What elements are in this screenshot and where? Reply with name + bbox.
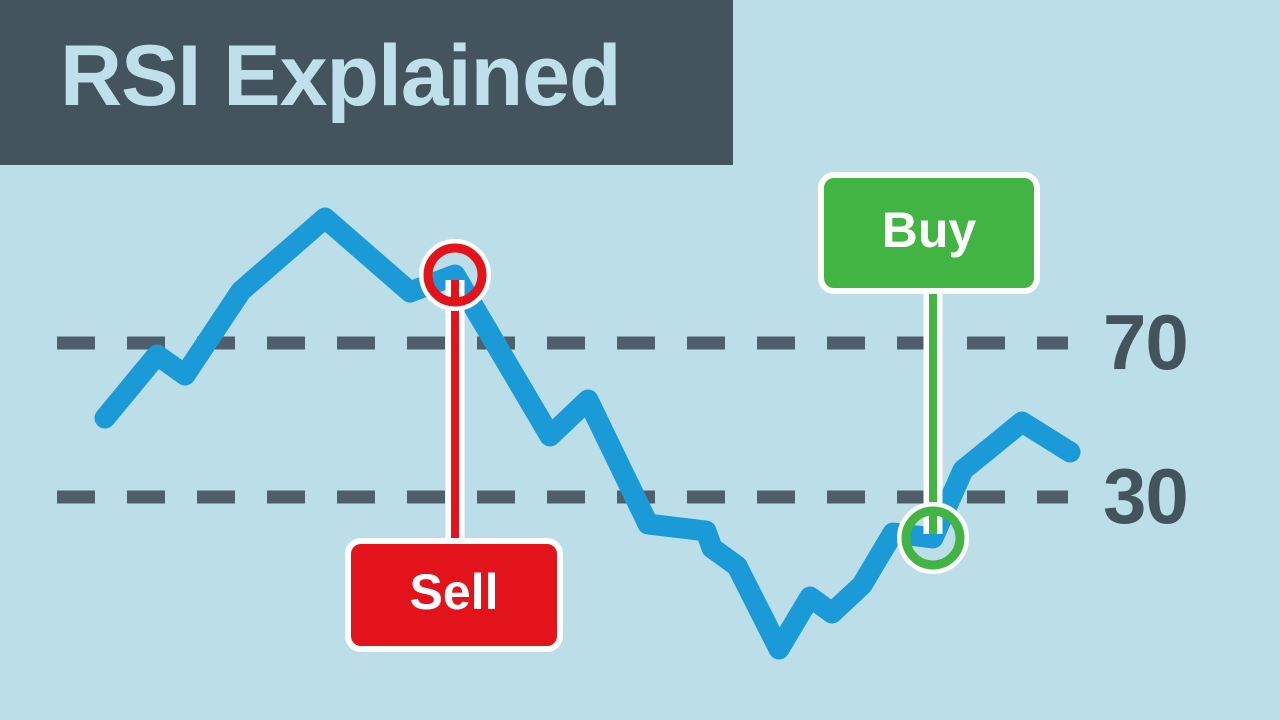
buy-badge-label: Buy	[882, 201, 976, 259]
page-title: RSI Explained	[60, 18, 621, 134]
title-banner: RSI Explained	[0, 0, 733, 165]
rsi-infographic: 70 30 Buy Sell RSI Explained	[0, 0, 1280, 720]
level-label-30: 30	[1103, 457, 1188, 535]
level-label-70: 70	[1103, 303, 1188, 381]
sell-badge[interactable]: Sell	[345, 538, 563, 652]
sell-annotation	[425, 245, 485, 560]
buy-badge[interactable]: Buy	[818, 172, 1040, 294]
buy-annotation	[903, 270, 963, 568]
sell-badge-label: Sell	[410, 563, 499, 621]
